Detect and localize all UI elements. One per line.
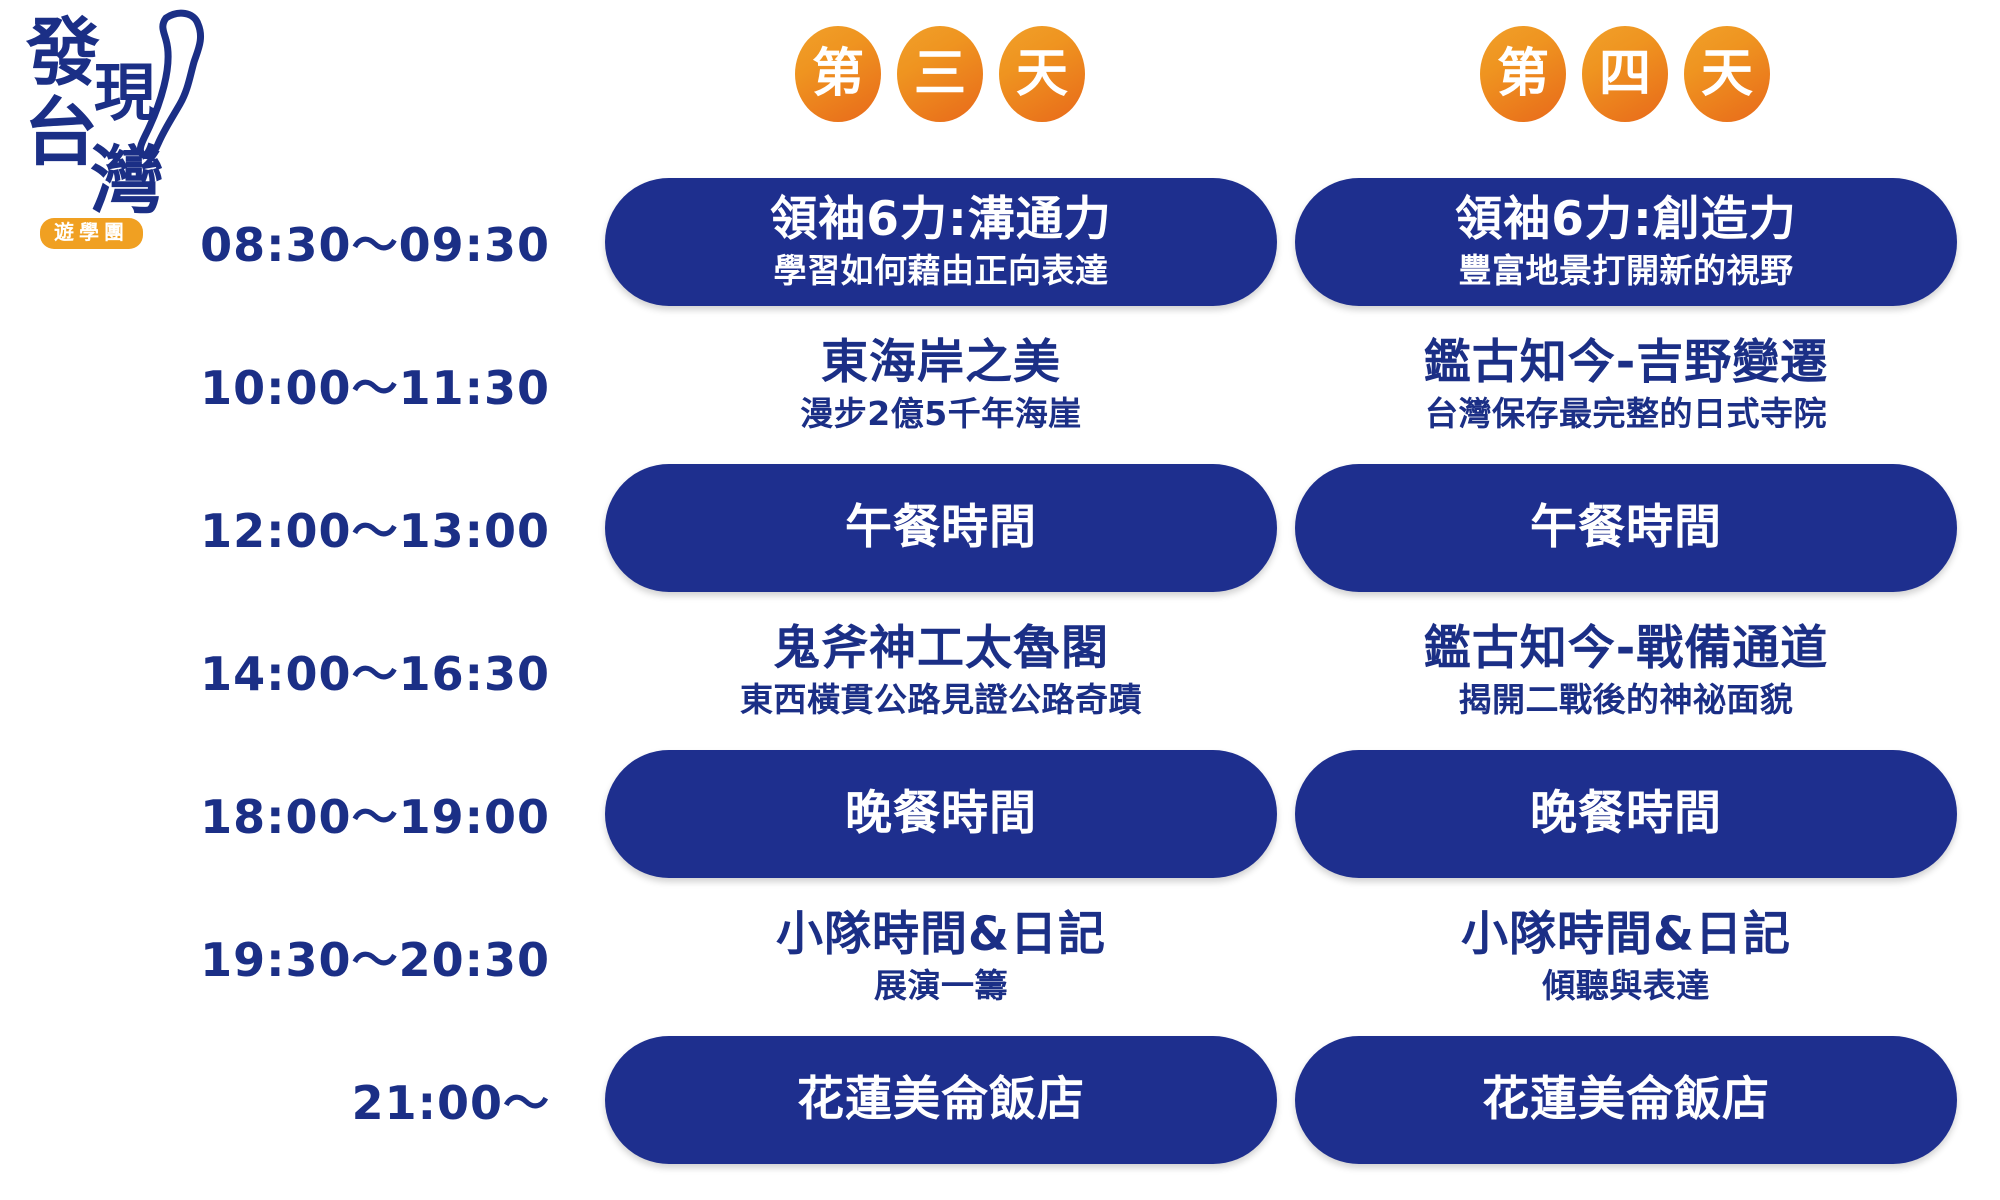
session-subtitle: 台灣保存最完整的日式寺院: [1425, 394, 1827, 434]
session-cell-day4[interactable]: 鑑古知今-戰備通道 揭開二戰後的神祕面貌: [1295, 607, 1957, 735]
session-subtitle: 展演一籌: [874, 966, 1008, 1006]
session-cell-day4[interactable]: 小隊時間&日記 傾聽與表達: [1295, 893, 1957, 1021]
time-slot-label: 14:00～16:30: [150, 599, 550, 742]
schedule-row: 12:00～13:00 午餐時間 午餐時間: [0, 456, 2000, 599]
session-title: 午餐時間: [845, 502, 1037, 555]
session-title: 花蓮美侖飯店: [797, 1074, 1085, 1127]
day4-chip-2: 四: [1582, 26, 1668, 122]
session-title: 花蓮美侖飯店: [1482, 1074, 1770, 1127]
schedule-row: 10:00～11:30 東海岸之美 漫步2億5千年海崖 鑑古知今-吉野變遷 台灣…: [0, 313, 2000, 456]
time-slot-label: 10:00～11:30: [150, 313, 550, 456]
time-slot-label: 19:30～20:30: [150, 885, 550, 1028]
session-title: 小隊時間&日記: [1461, 909, 1791, 962]
day4-chip-1: 第: [1480, 26, 1566, 122]
session-subtitle: 東西橫貫公路見證公路奇蹟: [740, 680, 1142, 720]
time-slot-label: 21:00～: [150, 1028, 550, 1171]
day3-chip-1: 第: [795, 26, 881, 122]
session-cell-day4[interactable]: 午餐時間: [1295, 464, 1957, 592]
session-subtitle: 漫步2億5千年海崖: [800, 394, 1081, 434]
brand-char-fa: 發: [25, 10, 100, 96]
schedule-row: 08:30～09:30 領袖6力:溝通力 學習如何藉由正向表達 領袖6力:創造力…: [0, 170, 2000, 313]
session-cell-day3[interactable]: 花蓮美侖飯店: [605, 1036, 1277, 1164]
day-header-day3: 第 三 天: [605, 26, 1275, 122]
time-slot-label: 08:30～09:30: [150, 170, 550, 313]
session-title: 鬼斧神工太魯閣: [773, 623, 1109, 676]
session-cell-day3[interactable]: 鬼斧神工太魯閣 東西橫貫公路見證公路奇蹟: [605, 607, 1277, 735]
session-title: 午餐時間: [1530, 502, 1722, 555]
schedule-row: 18:00～19:00 晚餐時間 晚餐時間: [0, 742, 2000, 885]
schedule-row: 14:00～16:30 鬼斧神工太魯閣 東西橫貫公路見證公路奇蹟 鑑古知今-戰備…: [0, 599, 2000, 742]
session-title: 領袖6力:溝通力: [770, 194, 1112, 247]
session-cell-day4[interactable]: 晚餐時間: [1295, 750, 1957, 878]
session-cell-day4[interactable]: 花蓮美侖飯店: [1295, 1036, 1957, 1164]
day4-chip-3: 天: [1684, 26, 1770, 122]
schedule-row: 19:30～20:30 小隊時間&日記 展演一籌 小隊時間&日記 傾聽與表達: [0, 885, 2000, 1028]
brand-char-tai: 台: [24, 90, 98, 176]
session-title: 晚餐時間: [1530, 788, 1722, 841]
session-title: 小隊時間&日記: [776, 909, 1106, 962]
session-title: 晚餐時間: [845, 788, 1037, 841]
session-subtitle: 揭開二戰後的神祕面貌: [1459, 680, 1794, 720]
session-cell-day4[interactable]: 領袖6力:創造力 豐富地景打開新的視野: [1295, 178, 1957, 306]
day3-chip-3: 天: [999, 26, 1085, 122]
time-slot-label: 12:00～13:00: [150, 456, 550, 599]
day3-chip-2: 三: [897, 26, 983, 122]
session-cell-day3[interactable]: 東海岸之美 漫步2億5千年海崖: [605, 321, 1277, 449]
schedule-row: 21:00～ 花蓮美侖飯店 花蓮美侖飯店: [0, 1028, 2000, 1171]
session-title: 東海岸之美: [821, 337, 1061, 390]
session-cell-day3[interactable]: 午餐時間: [605, 464, 1277, 592]
session-title: 鑑古知今-吉野變遷: [1424, 337, 1829, 390]
session-cell-day3[interactable]: 領袖6力:溝通力 學習如何藉由正向表達: [605, 178, 1277, 306]
day-header-day4: 第 四 天: [1295, 26, 1955, 122]
time-slot-label: 18:00～19:00: [150, 742, 550, 885]
session-subtitle: 學習如何藉由正向表達: [774, 251, 1109, 291]
session-title: 領袖6力:創造力: [1455, 194, 1797, 247]
brand-char-xian: 現: [94, 56, 156, 129]
session-cell-day4[interactable]: 鑑古知今-吉野變遷 台灣保存最完整的日式寺院: [1295, 321, 1957, 449]
session-cell-day3[interactable]: 晚餐時間: [605, 750, 1277, 878]
session-subtitle: 豐富地景打開新的視野: [1459, 251, 1794, 291]
session-title: 鑑古知今-戰備通道: [1424, 623, 1829, 676]
session-subtitle: 傾聽與表達: [1542, 966, 1710, 1006]
session-cell-day3[interactable]: 小隊時間&日記 展演一籌: [605, 893, 1277, 1021]
schedule-grid: 08:30～09:30 領袖6力:溝通力 學習如何藉由正向表達 領袖6力:創造力…: [0, 170, 2000, 1171]
